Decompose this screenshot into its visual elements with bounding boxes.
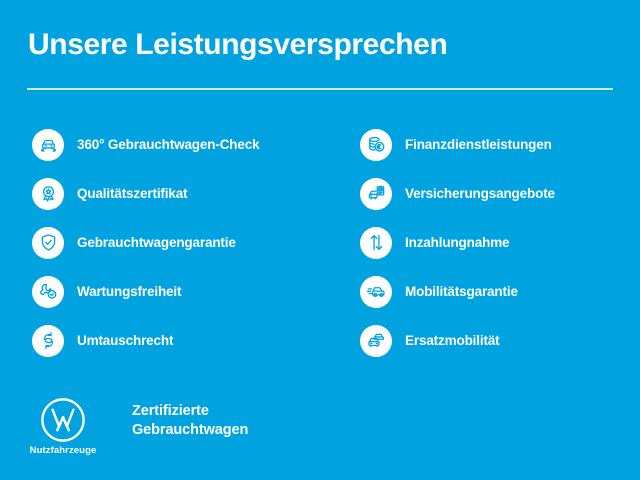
vw-logo-block: Nutzfahrzeuge [32, 396, 94, 456]
coins-euro-icon [360, 129, 392, 161]
list-item-label: Wartungsfreiheit [77, 285, 181, 299]
list-item-label: Mobilitätsgarantie [405, 285, 518, 299]
award-rosette-icon [32, 178, 64, 210]
list-item-label: Finanzdienstleistungen [405, 138, 552, 152]
list-item[interactable]: Finanzdienstleistungen [360, 120, 640, 169]
footer-tagline-line2: Gebrauchtwagen [132, 421, 248, 440]
footer-brand: Nutzfahrzeuge Zertifizierte Gebrauchtwag… [32, 396, 248, 456]
vw-roundel-icon [39, 396, 87, 444]
two-cars-icon [360, 325, 392, 357]
shield-check-icon [32, 227, 64, 259]
footer-tagline-line1: Zertifizierte [132, 402, 248, 421]
up-down-arrows-icon [360, 227, 392, 259]
page-title: Unsere Leistungsversprechen [28, 30, 447, 60]
list-item[interactable]: Mobilitätsgarantie [360, 267, 640, 316]
title-divider [27, 88, 613, 90]
list-item[interactable]: Inzahlungnahme [360, 218, 640, 267]
car-360-check-icon [32, 129, 64, 161]
list-item[interactable]: Qualitätszertifikat [32, 169, 332, 218]
promise-poster: Unsere Leistungsversprechen 360° Ge [0, 0, 640, 480]
list-item-label: Umtauschrecht [77, 334, 173, 348]
list-item[interactable]: Wartungsfreiheit [32, 267, 332, 316]
benefits-column-left: 360° Gebrauchtwagen-Check Qualitätszerti… [32, 120, 332, 365]
list-item[interactable]: Gebrauchtwagengarantie [32, 218, 332, 267]
list-item-label: Versicherungsangebote [405, 187, 555, 201]
footer-tagline: Zertifizierte Gebrauchtwagen [132, 402, 248, 440]
list-item[interactable]: Umtauschrecht [32, 316, 332, 365]
car-document-icon [360, 178, 392, 210]
vw-logo-wordmark: Nutzfahrzeuge [30, 446, 97, 456]
benefits-column-right: Finanzdienstleistungen Versicheru [360, 120, 640, 365]
list-item-label: Inzahlungnahme [405, 236, 509, 250]
list-item-label: Gebrauchtwagengarantie [77, 236, 236, 250]
wrench-check-icon [32, 276, 64, 308]
exchange-arrows-icon [32, 325, 64, 357]
list-item[interactable]: Ersatzmobilität [360, 316, 640, 365]
list-item-label: Qualitätszertifikat [77, 187, 187, 201]
list-item[interactable]: 360° Gebrauchtwagen-Check [32, 120, 332, 169]
list-item-label: 360° Gebrauchtwagen-Check [77, 138, 259, 152]
car-motion-icon [360, 276, 392, 308]
list-item-label: Ersatzmobilität [405, 334, 500, 348]
list-item[interactable]: Versicherungsangebote [360, 169, 640, 218]
